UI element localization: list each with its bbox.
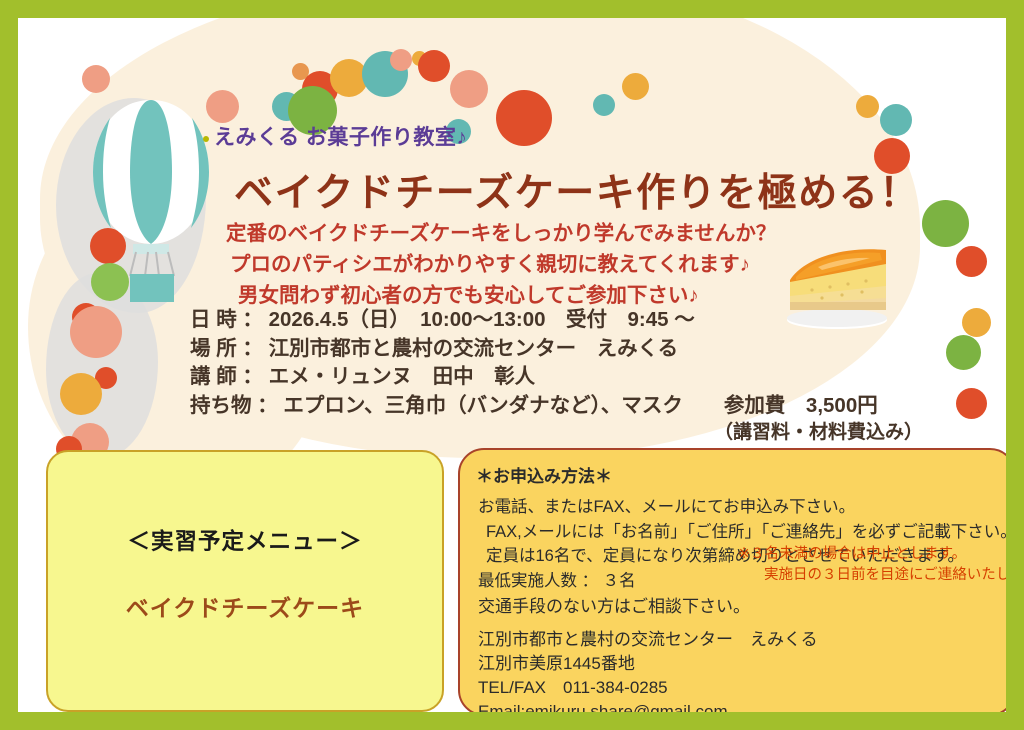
contact-organization: 江別市都市と農村の交流センター えみくる (478, 628, 818, 652)
event-details: 日 時 ： 2026.4.5（日） 10:00〜13:00 受付 9:45 〜 … (190, 306, 878, 420)
warning-line: 実施日の３日前を目途にご連絡いたしますのでご了承下さい。 (738, 565, 1006, 586)
contact-phone: TEL/FAX 011-384-0285 (478, 676, 818, 700)
decor-circle (956, 388, 987, 419)
decor-circle (593, 94, 615, 116)
practice-menu-item: ベイクドチーズケーキ (48, 589, 442, 623)
contact-email: Email:emikuru.share@gmail.com (478, 700, 818, 712)
decor-circle (82, 65, 110, 93)
lead-line: 定番のベイクドチーズケーキをしっかり学んでみませんか？ (226, 218, 776, 249)
decor-circle (496, 90, 552, 146)
detail-line-instructor: 講 師 ： エメ・リュンヌ 田中 彰人 (190, 363, 878, 392)
decor-circle (450, 70, 488, 108)
decor-circle (622, 73, 649, 100)
application-method-panel: ＊お申込み方法＊ お電話、またはFAX、メールにてお申込み下さい。 FAX,メー… (458, 448, 1006, 712)
hot-air-balloon-illustration (90, 100, 212, 305)
decor-circle (946, 335, 981, 370)
detail-line-datetime: 日 時 ： 2026.4.5（日） 10:00〜13:00 受付 9:45 〜 (190, 306, 878, 335)
poster-root: えみくる お菓子作り教室♪ ベイクドチーズケーキ作りを極める！ 定番のベイクドチ… (0, 0, 1024, 730)
cancellation-warning: ※３名未満の場合は中止とします。 実施日の３日前を目途にご連絡いたしますのでご了… (738, 544, 1006, 586)
application-line: FAX,メールには「お名前」「ご住所」「ご連絡先」を必ずご記載下さい。 (478, 520, 1006, 545)
decor-circle (70, 306, 122, 358)
decor-circle (880, 104, 912, 136)
decor-circle (962, 308, 991, 337)
application-line: お電話、またはFAX、メールにてお申込み下さい。 (478, 495, 1006, 520)
poster-lead-text: 定番のベイクドチーズケーキをしっかり学んでみませんか？ プロのパティシエがわかり… (226, 218, 776, 311)
decor-circle (390, 49, 412, 71)
decor-circle (60, 373, 102, 415)
fee-inclusion-note: （講習料・材料費込み） (714, 417, 923, 444)
kicker-bullet-dot (203, 136, 209, 142)
poster-kicker: えみくる お菓子作り教室♪ (214, 121, 467, 151)
practice-menu-panel: ＜実習予定メニュー＞ ベイクドチーズケーキ (46, 450, 444, 712)
decor-circle (418, 50, 450, 82)
contact-block: 江別市都市と農村の交流センター えみくる 江別市美原1445番地 TEL/FAX… (478, 628, 818, 712)
detail-line-bring-and-fee: 持ち物 ： エプロン、三角巾（バンダナなど）、マスク 参加費 3,500円 (190, 392, 878, 421)
decor-circle (922, 200, 969, 247)
poster-sheet: えみくる お菓子作り教室♪ ベイクドチーズケーキ作りを極める！ 定番のベイクドチ… (18, 18, 1006, 712)
contact-address: 江別市美原1445番地 (478, 652, 818, 676)
application-heading: ＊お申込み方法＊ (476, 462, 612, 487)
poster-headline: ベイクドチーズケーキ作りを極める！ (234, 162, 920, 218)
practice-menu-title: ＜実習予定メニュー＞ (48, 524, 442, 556)
warning-line: ※３名未満の場合は中止とします。 (738, 544, 1006, 565)
decor-circle (956, 246, 987, 277)
decor-circle (856, 95, 879, 118)
detail-line-venue: 場 所 ： 江別市都市と農村の交流センター えみくる (190, 335, 878, 364)
transport-note: 交通手段のない方はご相談下さい。 (478, 592, 750, 617)
lead-line: プロのパティシエがわかりやすく親切に教えてくれます♪ (226, 249, 776, 280)
